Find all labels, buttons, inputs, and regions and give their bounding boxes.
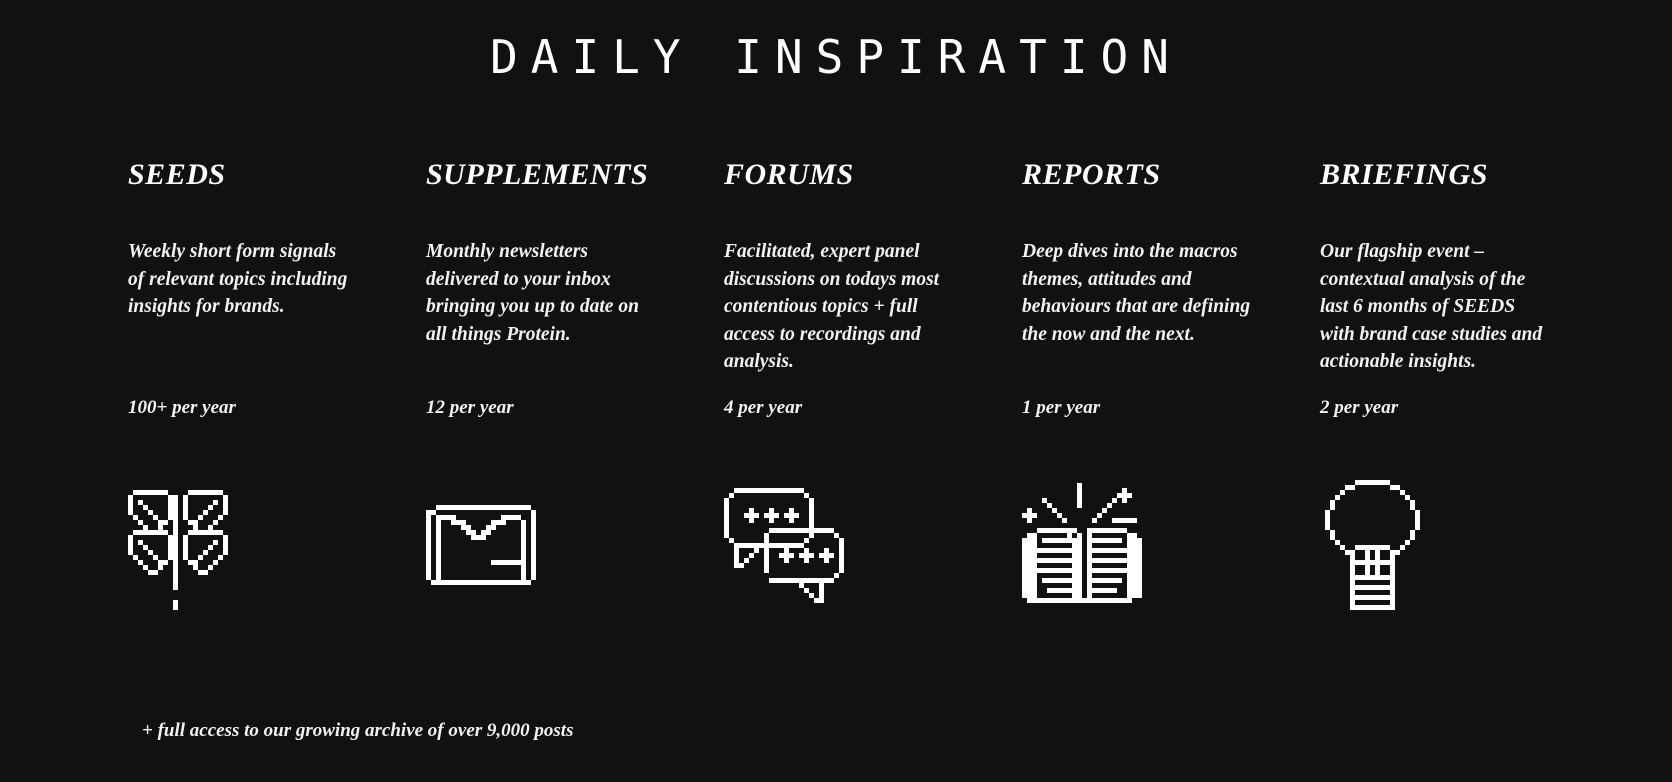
offering-column-seeds: SEEDS Weekly short form signals of relev… [128,160,426,321]
column-heading: SEEDS [128,160,426,190]
column-frequency: 4 per year [724,398,802,417]
column-description: Our flagship event – contextual analysis… [1320,238,1552,376]
column-description: Deep dives into the macros themes, attit… [1022,238,1254,348]
column-description: Monthly newsletters delivered to your in… [426,238,651,348]
offering-column-forums: FORUMS Facilitated, expert panel discuss… [724,160,1022,376]
lightbulb-icon [1320,480,1425,610]
column-frequency: 12 per year [426,398,514,417]
column-heading: SUPPLEMENTS [426,160,724,190]
icon-cell-seeds [128,475,426,615]
speech-bubbles-icon [724,488,844,603]
offering-column-reports: REPORTS Deep dives into the macros theme… [1022,160,1320,348]
daily-inspiration-page: DAILY INSPIRATION SEEDS Weekly short for… [0,0,1672,782]
column-heading: BRIEFINGS [1320,160,1618,190]
offering-column-briefings: BRIEFINGS Our flagship event – contextua… [1320,160,1618,376]
page-title: DAILY INSPIRATION [0,30,1672,84]
column-description: Facilitated, expert panel discussions on… [724,238,956,376]
column-heading: REPORTS [1022,160,1320,190]
column-frequency: 2 per year [1320,398,1398,417]
offering-column-supplements: SUPPLEMENTS Monthly newsletters delivere… [426,160,724,348]
icon-cell-supplements [426,475,724,615]
open-book-icon [1022,483,1142,608]
icon-cell-forums [724,475,1022,615]
column-description: Weekly short form signals of relevant to… [128,238,353,321]
sprout-icon [128,480,228,610]
column-frequency: 100+ per year [128,398,236,417]
column-frequency: 1 per year [1022,398,1100,417]
icon-cell-briefings [1320,475,1618,615]
archive-note: + full access to our growing archive of … [142,721,573,740]
envelope-icon [426,505,536,585]
icon-cell-reports [1022,475,1320,615]
offerings-columns: SEEDS Weekly short form signals of relev… [128,160,1548,376]
offerings-icon-row [128,475,1548,615]
column-heading: FORUMS [724,160,1022,190]
